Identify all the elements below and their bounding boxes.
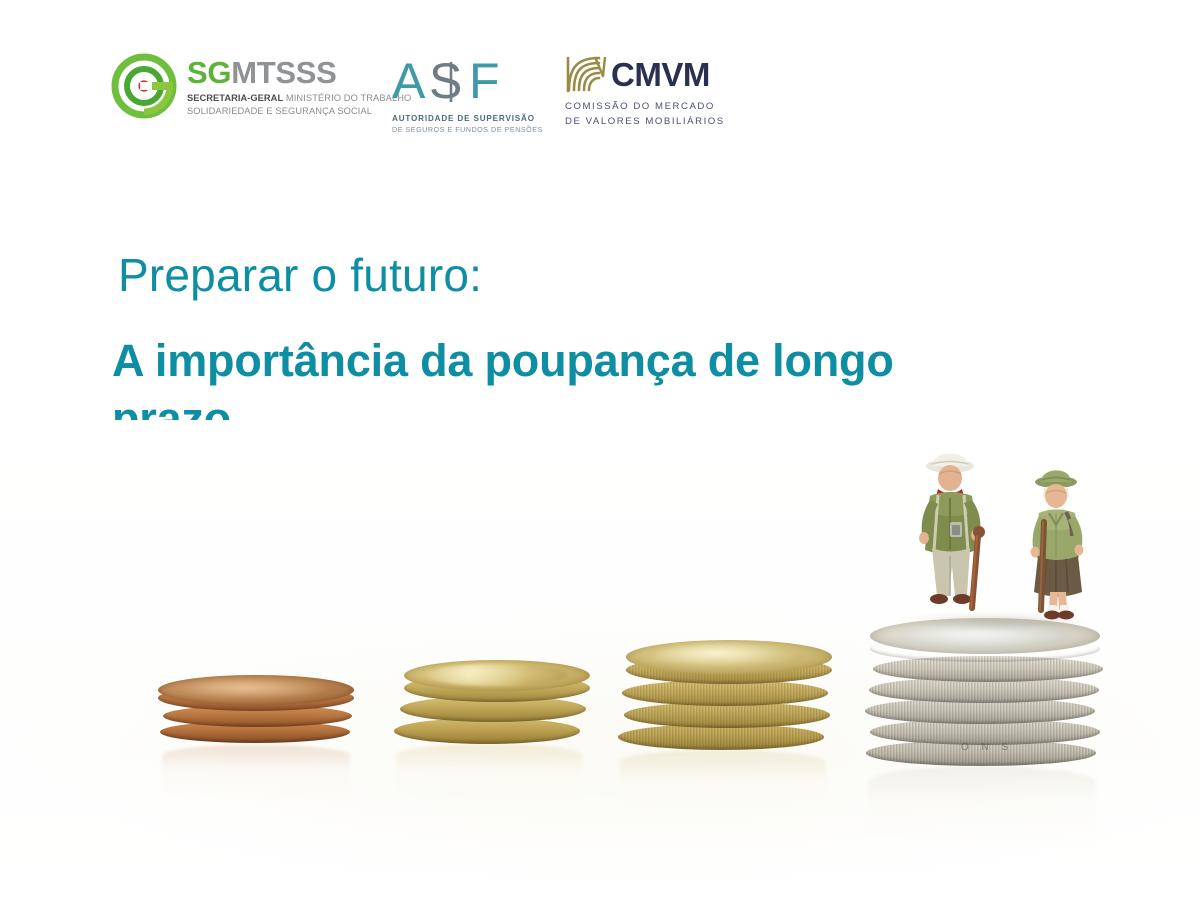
cmvm-subtitle-line2: DE VALORES MOBILIÁRIOS: [565, 115, 735, 129]
sgmtsss-text-block: SGMTSSS SECRETARIA-GERAL MINISTÉRIO DO T…: [187, 55, 411, 117]
logo-asf: A S F AUTORIDADE DE SUPERVISÃO DE SEGURO…: [392, 52, 537, 134]
cmvm-arcs-mark: [565, 54, 607, 94]
partner-logo-bar: SGMTSSS SECRETARIA-GERAL MINISTÉRIO DO T…: [110, 52, 735, 132]
kicker-text: Preparar o futuro:: [118, 252, 482, 298]
figurine-man-svg: [892, 440, 1012, 630]
stack-reflection: [868, 766, 1096, 856]
coin-stack-2: [394, 646, 594, 766]
sgmtsss-wordmark-part2: MTSSS: [231, 55, 336, 90]
svg-text:A: A: [392, 56, 426, 108]
poster-canvas: SGMTSSS SECRETARIA-GERAL MINISTÉRIO DO T…: [0, 0, 1200, 900]
figurine-contact-shadow: [900, 616, 1090, 630]
cmvm-subtitle-line1: COMISSÃO DO MERCADO: [565, 100, 735, 114]
sgmtsss-subtitle-strong: SECRETARIA-GERAL: [187, 93, 283, 103]
stack-reflection: [620, 750, 826, 816]
coin-face-relief: [654, 644, 804, 669]
stack-reflection: [396, 744, 582, 806]
coin-stack-3: [618, 624, 838, 774]
figurine-woman-svg: [1008, 460, 1113, 630]
svg-text:S: S: [429, 56, 461, 108]
sgmtsss-subtitle-line2: SOLIDARIEDADE E SEGURANÇA SOCIAL: [187, 105, 411, 117]
coin-stacks-photo: O N S: [0, 420, 1200, 900]
stack-reflection: [162, 745, 350, 801]
cmvm-top-row: CMVM: [565, 54, 735, 94]
cmvm-wordmark: CMVM: [611, 58, 710, 91]
sgmtsss-target-mark: [110, 52, 178, 120]
sgmtsss-subtitle-line1: SECRETARIA-GERAL MINISTÉRIO DO TRABALHO: [187, 93, 411, 105]
sgmtsss-wordmark: SGMTSSS: [187, 57, 411, 88]
sgmtsss-wordmark-part1: SG: [187, 55, 231, 90]
figurine-elderly-woman: [1008, 460, 1113, 630]
coin-edge-text: O N S: [902, 742, 1072, 753]
logo-sgmtsss: SGMTSSS SECRETARIA-GERAL MINISTÉRIO DO T…: [110, 52, 360, 120]
asf-subtitle-line1: AUTORIDADE DE SUPERVISÃO: [392, 114, 537, 123]
coin-stack-1: [158, 675, 358, 765]
coin-face-relief: [176, 679, 336, 700]
asf-subtitle-line2: DE SEGUROS E FUNDOS DE PENSÕES: [392, 125, 537, 134]
svg-text:F: F: [469, 56, 499, 108]
logo-cmvm: CMVM COMISSÃO DO MERCADO DE VALORES MOBI…: [565, 52, 735, 129]
asf-wordmark: A S F: [392, 56, 524, 108]
coin-face-relief: [426, 664, 568, 686]
figurine-elderly-man: [892, 440, 1012, 630]
coin-stack-4: O N S: [862, 616, 1112, 791]
